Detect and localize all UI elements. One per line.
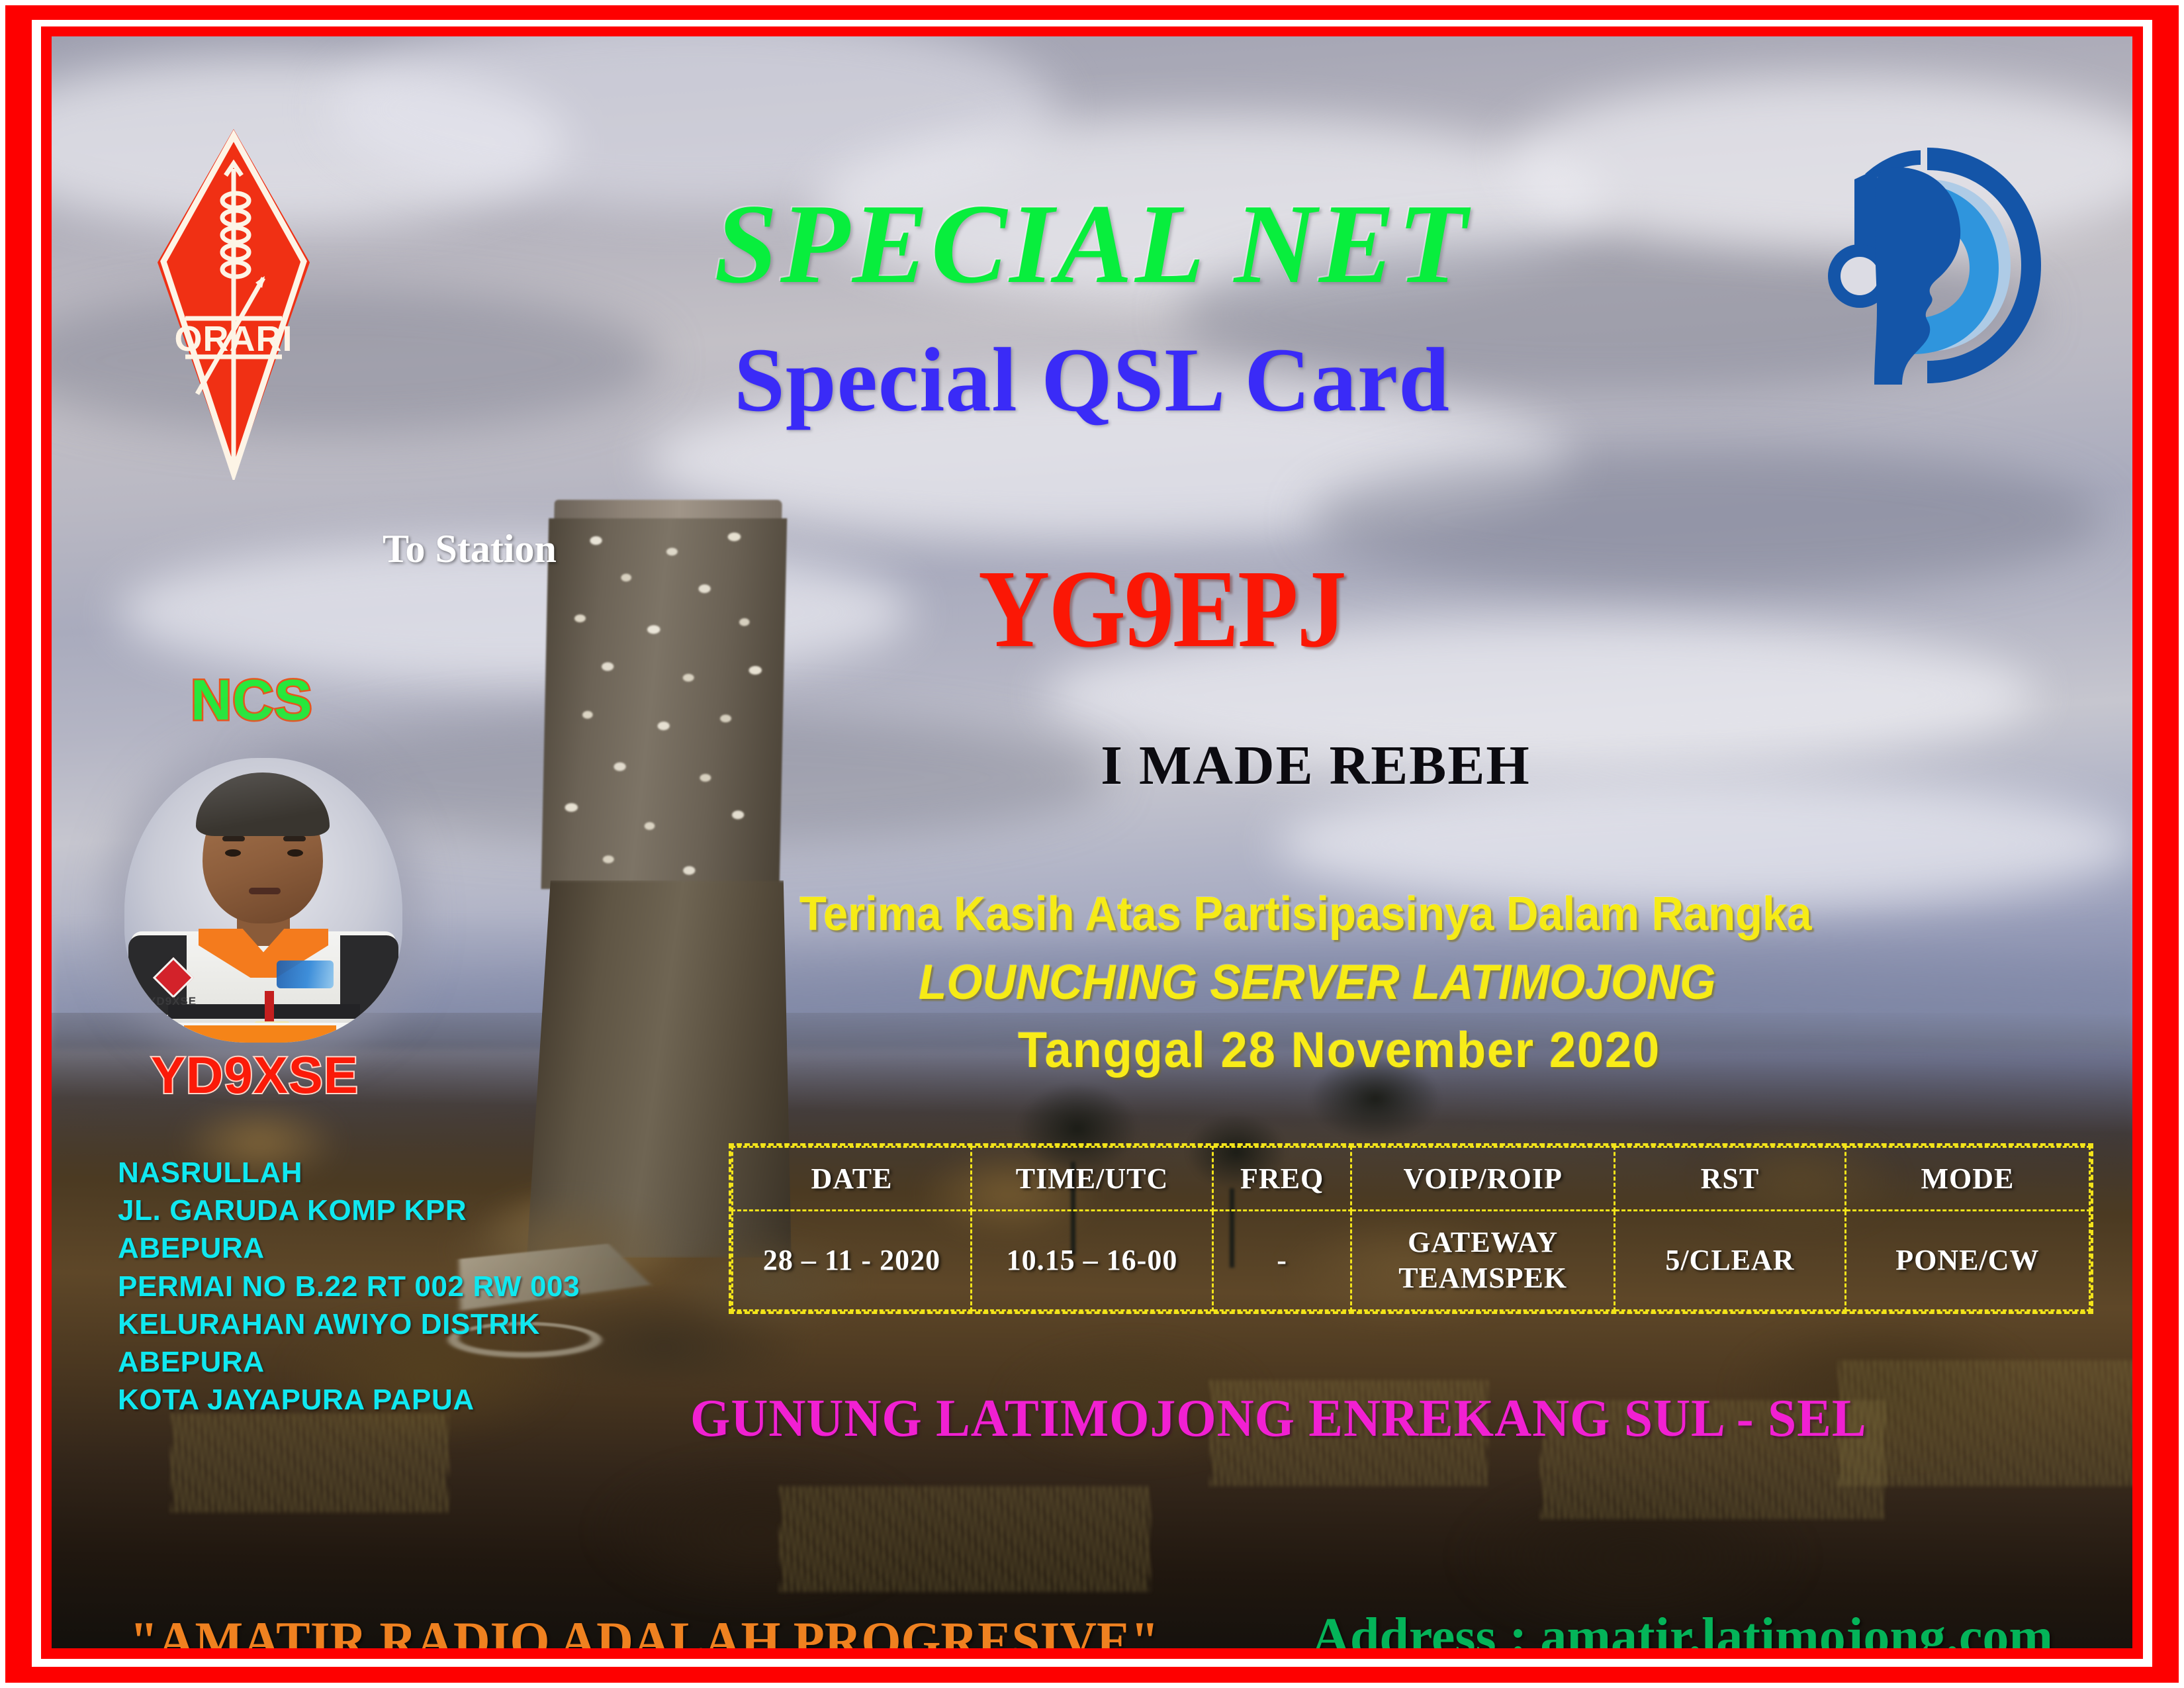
qso-log-table: DATE TIME/UTC FREQ VOIP/ROIP RST MODE 28… (729, 1143, 2093, 1314)
orari-logo: ORARI (158, 129, 310, 480)
card-photo-background: ORARI SPECIAL NET Special QSL Card To St… (52, 36, 2132, 1648)
portrait-sash (184, 1025, 336, 1043)
location-caption: GUNUNG LATIMOJONG ENREKANG SUL - SEL (690, 1392, 1910, 1445)
portrait-patch-callsign: YD9XSE (148, 995, 197, 1008)
address-line: KOTA JAYAPURA PAPUA (118, 1381, 580, 1419)
operator-name: I MADE REBEH (965, 738, 1666, 794)
portrait-shoulder-right (340, 935, 398, 1015)
cell-voip-line2: TEAMSPEK (1398, 1262, 1567, 1294)
table-row: 28 – 11 - 2020 10.15 – 16-00 - GATEWAY T… (733, 1211, 2090, 1311)
thanks-message: Terima Kasih Atas Partisipasinya Dalam R… (799, 890, 2006, 938)
portrait-lanyard (265, 991, 274, 1025)
column-header-date: DATE (733, 1147, 972, 1211)
address-block: NASRULLAH JL. GARUDA KOMP KPR ABEPURA PE… (118, 1154, 580, 1419)
portrait-chest-logo (277, 961, 334, 988)
grass-tuft (171, 1413, 449, 1513)
page-title: SPECIAL NET (52, 187, 2132, 301)
qsl-card: ORARI SPECIAL NET Special QSL Card To St… (0, 0, 2184, 1688)
address-line: JL. GARUDA KOMP KPR (118, 1192, 580, 1229)
cell-voip-line1: GATEWAY (1408, 1226, 1558, 1258)
address-line: PERMAI NO B.22 RT 002 RW 003 (118, 1268, 580, 1305)
address-line: KELURAHAN AWIYO DISTRIK (118, 1305, 580, 1343)
column-header-time: TIME/UTC (971, 1147, 1212, 1211)
portrait-shirt-stripe (168, 1004, 360, 1019)
cell-date: 28 – 11 - 2020 (733, 1211, 972, 1311)
monument-cobble-body (541, 518, 788, 889)
column-header-voip: VOIP/ROIP (1351, 1147, 1615, 1211)
ncs-operator-portrait: YD9XSE (124, 758, 402, 1043)
portrait-eyebrow (283, 836, 306, 841)
address-line: ABEPURA (118, 1343, 580, 1381)
portrait-eye (287, 849, 303, 857)
address-line: NASRULLAH (118, 1154, 580, 1192)
address-line: ABEPURA (118, 1229, 580, 1267)
ncs-callsign: YD9XSE (151, 1049, 359, 1101)
portrait-eyebrow (222, 836, 245, 841)
cell-rst: 5/CLEAR (1615, 1211, 1846, 1311)
event-name: LOUNCHING SERVER LATIMOJONG (919, 958, 2038, 1007)
table-header-row: DATE TIME/UTC FREQ VOIP/ROIP RST MODE (733, 1147, 2090, 1211)
portrait-mouth (249, 888, 281, 894)
column-header-rst: RST (1615, 1147, 1846, 1211)
grass-tuft (780, 1486, 1150, 1592)
portrait-eye (225, 849, 241, 857)
footer-motto: "AMATIR RADIO ADALAH PROGRESIVE" (130, 1614, 1159, 1648)
to-station-label: To Station (383, 526, 557, 572)
ncs-label: NCS (191, 672, 313, 729)
cell-voip: GATEWAY TEAMSPEK (1351, 1211, 1615, 1311)
cell-freq: - (1213, 1211, 1351, 1311)
footer-web-address: Address : amatir.latimojong.com (1312, 1611, 2053, 1648)
station-callsign: YG9EPJ (978, 553, 1640, 665)
cell-mode: PONE/CW (1845, 1211, 2089, 1311)
column-header-freq: FREQ (1213, 1147, 1351, 1211)
page-subtitle: Special QSL Card (52, 334, 2132, 426)
cell-time: 10.15 – 16-00 (971, 1211, 1212, 1311)
column-header-mode: MODE (1845, 1147, 2089, 1211)
event-date: Tanggal 28 November 2020 (1018, 1025, 2087, 1076)
stone-monument (533, 500, 788, 1248)
orari-logo-detail: ORARI (158, 129, 310, 480)
